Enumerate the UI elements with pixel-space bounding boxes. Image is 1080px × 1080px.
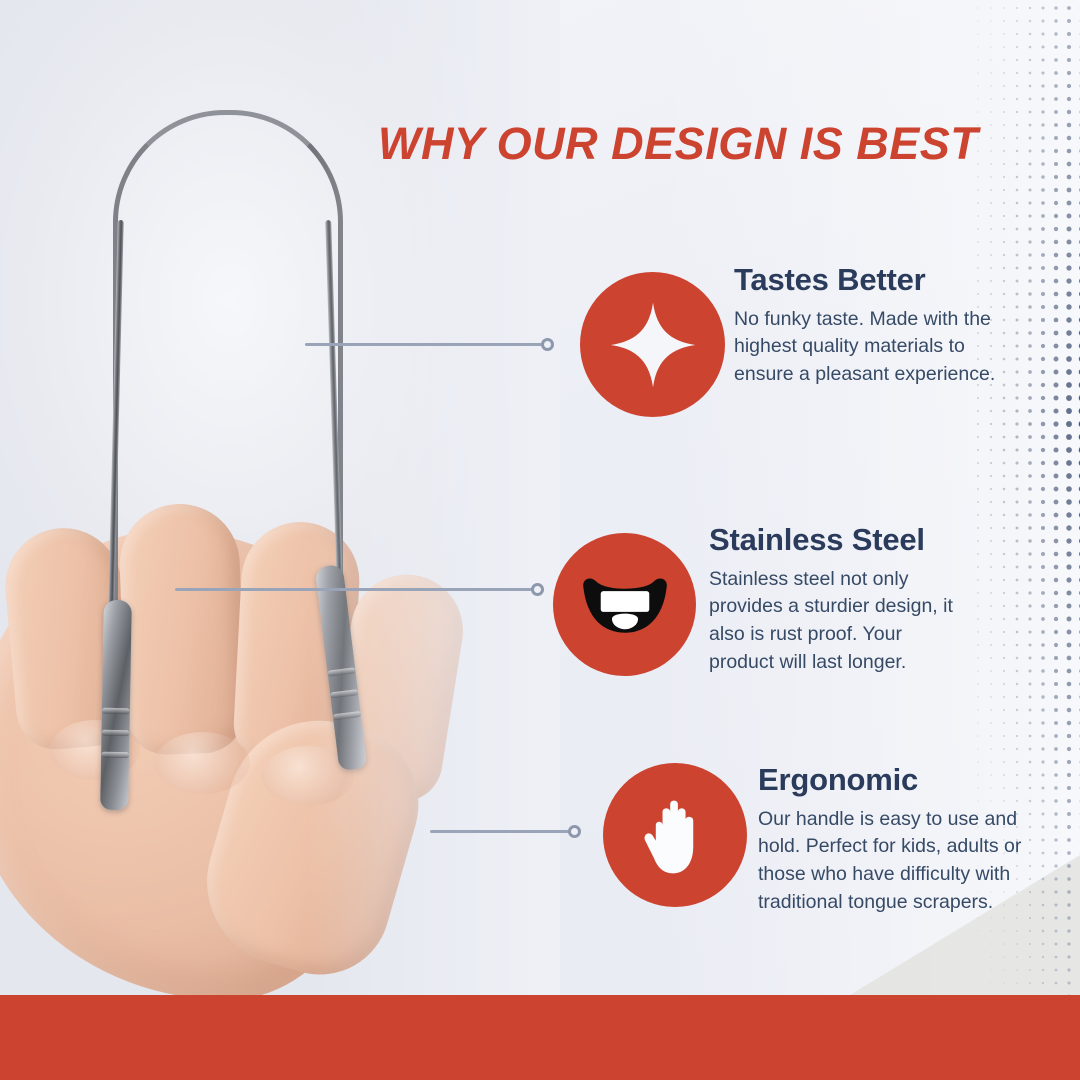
feature-2-heading: Stainless Steel (709, 524, 971, 557)
connector-line-3 (430, 830, 575, 833)
open-mouth-icon-badge (553, 533, 696, 676)
connector-dot-3 (568, 825, 581, 838)
page-title: WHY OUR DESIGN IS BEST (378, 118, 978, 170)
feature-3-text: Ergonomic Our handle is easy to use and … (758, 764, 1023, 916)
bottom-accent-bar (0, 995, 1080, 1080)
connector-dot-2 (531, 583, 544, 596)
open-mouth-icon (573, 553, 677, 657)
hand-palm-icon-badge (603, 763, 747, 907)
feature-2-body: Stainless steel not only provides a stur… (709, 566, 971, 677)
infographic-canvas: WHY OUR DESIGN IS BEST Tastes Better No … (0, 0, 1080, 1080)
sparkle-icon-badge (580, 272, 725, 417)
feature-1-text: Tastes Better No funky taste. Made with … (734, 264, 996, 389)
feature-2-text: Stainless Steel Stainless steel not only… (709, 524, 971, 676)
sparkle-icon (607, 299, 699, 391)
feature-3-body: Our handle is easy to use and hold. Perf… (758, 806, 1023, 917)
feature-1-body: No funky taste. Made with the highest qu… (734, 306, 996, 389)
connector-dot-1 (541, 338, 554, 351)
feature-3-heading: Ergonomic (758, 764, 1023, 797)
feature-1-heading: Tastes Better (734, 264, 996, 297)
connector-line-2 (175, 588, 535, 591)
connector-line-1 (305, 343, 545, 346)
hand-palm-icon (627, 787, 723, 883)
